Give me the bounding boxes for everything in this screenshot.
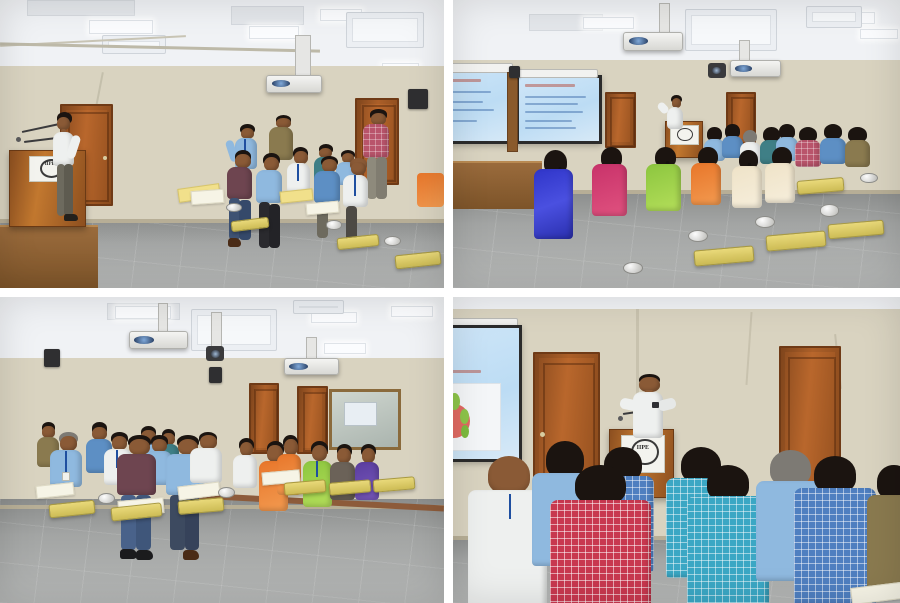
chair bbox=[453, 536, 533, 603]
ceiling-projector bbox=[129, 331, 189, 350]
camera bbox=[206, 346, 224, 361]
ceiling-projector bbox=[266, 75, 321, 93]
photo-top-right[interactable] bbox=[453, 0, 900, 288]
ceiling-projector bbox=[284, 358, 339, 375]
arm-knob bbox=[623, 262, 643, 274]
photo-bottom-left[interactable] bbox=[0, 297, 444, 603]
ceiling-light-icon bbox=[860, 29, 898, 40]
arm-knob bbox=[226, 203, 241, 212]
iipe-logo-icon bbox=[677, 128, 693, 141]
ac-vent bbox=[293, 300, 344, 314]
ac-vent bbox=[346, 12, 423, 49]
ac-vent bbox=[191, 309, 277, 351]
chair bbox=[484, 179, 542, 265]
projector-mount bbox=[295, 35, 310, 80]
stage-platform bbox=[0, 225, 98, 288]
photo-top-left[interactable]: IIPE bbox=[0, 0, 444, 288]
chair bbox=[320, 459, 369, 532]
photo-bottom-right[interactable]: IIPE bbox=[453, 297, 900, 603]
chair bbox=[275, 459, 324, 532]
presenter bbox=[663, 95, 690, 130]
chair bbox=[735, 523, 815, 603]
chair bbox=[632, 219, 704, 288]
chair bbox=[400, 207, 444, 288]
presenter bbox=[49, 112, 85, 221]
camera bbox=[708, 63, 726, 77]
chair bbox=[169, 471, 227, 557]
arm-knob bbox=[326, 220, 341, 229]
presenter bbox=[623, 374, 677, 441]
ceiling-light-icon bbox=[583, 17, 634, 29]
chair bbox=[538, 187, 601, 282]
arm-knob bbox=[820, 204, 840, 216]
ceiling-projector bbox=[623, 32, 683, 51]
collage-cell-top-left[interactable]: IIPE bbox=[0, 0, 450, 294]
chair bbox=[171, 179, 215, 248]
ac-vent bbox=[685, 9, 776, 51]
collage-cell-bottom-left[interactable] bbox=[0, 294, 450, 603]
collage-cell-top-right[interactable] bbox=[450, 0, 900, 294]
wall-speaker bbox=[209, 367, 222, 382]
ceiling-light-icon bbox=[324, 343, 366, 354]
control-room-window bbox=[329, 389, 402, 450]
ceiling-projector bbox=[730, 60, 781, 76]
door[interactable] bbox=[605, 92, 636, 148]
arm-knob bbox=[218, 487, 236, 498]
chair bbox=[222, 465, 275, 545]
ceiling-light-icon bbox=[391, 306, 433, 317]
photo-collage: IIPE bbox=[0, 0, 900, 603]
projection-screen bbox=[453, 325, 522, 463]
chair bbox=[641, 530, 721, 603]
attendee-clothing bbox=[417, 173, 444, 208]
ceiling-light-icon bbox=[249, 26, 300, 40]
chair bbox=[538, 517, 618, 603]
wall-speaker bbox=[44, 349, 60, 367]
wall-speaker bbox=[509, 66, 520, 78]
ceiling-light-icon bbox=[89, 20, 153, 34]
wall-speaker bbox=[408, 89, 428, 109]
arm-knob bbox=[98, 493, 116, 504]
projection-screen bbox=[516, 75, 602, 144]
projector-mount bbox=[211, 312, 222, 348]
ac-vent bbox=[806, 6, 862, 28]
collage-cell-bottom-right[interactable]: IIPE bbox=[450, 294, 900, 603]
chair bbox=[4, 481, 57, 567]
chair bbox=[271, 196, 324, 277]
arm-knob bbox=[755, 216, 775, 228]
